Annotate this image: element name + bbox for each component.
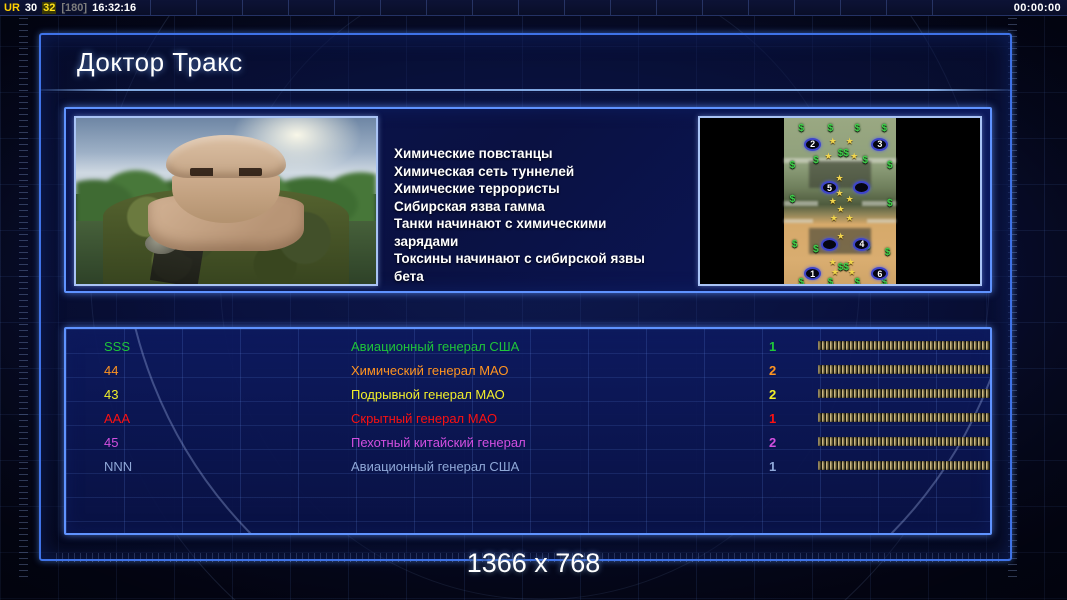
cell-army: Авиационный генерал США [351, 459, 519, 474]
map-supply-marker: $ [887, 198, 893, 209]
cell-progress-bar [818, 341, 992, 350]
table-row: 44Химический генерал МАО2 [66, 359, 990, 383]
map-start-position[interactable]: 4 [853, 238, 870, 251]
cell-player-name: 45 [104, 435, 118, 450]
map-tech-marker: ★ [830, 213, 838, 224]
map-supply-marker: $ [862, 155, 868, 166]
status-bar-left-group: UR 30 32 [180] 16:32:16 [0, 2, 136, 14]
cell-progress-bar [818, 365, 992, 374]
map-supply-marker: $ [828, 123, 834, 134]
cell-army: Авиационный генерал США [351, 339, 519, 354]
cell-player-name: 43 [104, 387, 118, 402]
cell-progress-bar [818, 461, 992, 470]
page-title: Доктор Тракс [77, 47, 243, 78]
table-row: 45Пехотный китайский генерал2 [66, 431, 990, 455]
map-tech-marker: ★ [837, 231, 845, 242]
cell-player-name: NNN [104, 459, 132, 474]
feature-item: Сибирская язва гамма [394, 198, 704, 216]
map-tech-marker: ★ [846, 194, 854, 205]
feature-item: Химические повстанцы [394, 145, 704, 163]
cell-team: 1 [769, 339, 776, 354]
table-row: AAAСкрытный генерал МАО1 [66, 407, 990, 431]
map-supply-marker: $ [799, 277, 805, 286]
map-tech-marker: ★ [850, 151, 858, 162]
map-supply-marker: $ [799, 123, 805, 134]
ruler-left-decoration [19, 18, 28, 578]
cell-team: 2 [769, 363, 776, 378]
cell-army: Подрывной генерал МАО [351, 387, 505, 402]
map-start-position[interactable] [853, 181, 870, 194]
portrait-eyes [190, 168, 262, 176]
cell-player-name: AAA [104, 411, 130, 426]
cell-army: Пехотный китайский генерал [351, 435, 526, 450]
map-tech-marker: ★ [829, 136, 837, 147]
cell-progress-bar [818, 437, 992, 446]
map-supply-marker: $ [792, 239, 798, 250]
map-supply-marker: $ [881, 123, 887, 134]
map-start-position[interactable]: 2 [804, 138, 821, 151]
map-supply-marker: $ [855, 277, 861, 286]
map-supply-marker: $ [813, 155, 819, 166]
map-supply-marker: $ [855, 123, 861, 134]
table-row: 43Подрывной генерал МАО2 [66, 383, 990, 407]
status-timer: 00:00:00 [1014, 2, 1067, 14]
map-start-position[interactable]: 1 [804, 267, 821, 280]
loading-screen-frame: Доктор Тракс Химические повстанцыХимичес… [39, 33, 1012, 561]
feature-item: Химическая сеть туннелей [394, 163, 704, 181]
feature-item: Токсины начинают с сибирской язвы бета [394, 250, 704, 285]
map-tech-marker: ★ [836, 173, 844, 184]
resolution-label: 1366 x 768 [0, 548, 1067, 579]
map-start-position[interactable] [821, 238, 838, 251]
feature-item: Танки начинают с химическими зарядами [394, 215, 704, 250]
cell-team: 2 [769, 387, 776, 402]
cell-player-name: 44 [104, 363, 118, 378]
table-row: SSSАвиационный генерал США1 [66, 335, 990, 359]
status-value-2: 32 [42, 2, 56, 14]
debug-status-bar: UR 30 32 [180] 16:32:16 00:00:00 [0, 0, 1067, 16]
map-tech-marker: ★ [824, 151, 832, 162]
map-tech-marker: ★ [846, 213, 854, 224]
status-prefix: UR [4, 2, 20, 14]
cell-team: 1 [769, 459, 776, 474]
map-road-left-lower [784, 219, 813, 223]
map-start-position[interactable]: 5 [821, 181, 838, 194]
map-supply-marker: $ [843, 148, 849, 159]
cell-progress-bar [818, 413, 992, 422]
map-road-right-lower [867, 219, 896, 223]
general-portrait [74, 116, 378, 286]
cell-army: Скрытный генерал МАО [351, 411, 497, 426]
cell-progress-bar [818, 389, 992, 398]
general-feature-list: Химические повстанцыХимическая сеть тунн… [394, 145, 704, 285]
cell-team: 2 [769, 435, 776, 450]
player-list-panel: Имя игрока Армия Команда Прогресс SSSАви… [64, 327, 992, 535]
map-tech-marker: ★ [831, 267, 839, 278]
map-tech-marker: ★ [846, 136, 854, 147]
map-tech-marker: ★ [848, 267, 856, 278]
cell-team: 1 [769, 411, 776, 426]
map-supply-marker: $ [813, 244, 819, 255]
title-divider [41, 89, 1010, 91]
cell-army: Химический генерал МАО [351, 363, 509, 378]
map-preview: $$$$$$$$$$$$$$$$$$$$$$★★★★★★★★★★★★★★★★23… [698, 116, 982, 286]
map-supply-marker: $ [887, 160, 893, 171]
map-supply-marker: $ [885, 247, 891, 258]
map-supply-marker: $ [828, 277, 834, 286]
status-bar-ticks [150, 0, 947, 15]
table-row: NNNАвиационный генерал США1 [66, 455, 990, 479]
status-clock: 16:32:16 [92, 2, 136, 14]
general-info-panel: Химические повстанцыХимическая сеть тунн… [64, 107, 992, 293]
map-supply-marker: $ [790, 160, 796, 171]
status-value-1: 30 [25, 2, 37, 14]
map-preview-terrain: $$$$$$$$$$$$$$$$$$$$$$★★★★★★★★★★★★★★★★23… [784, 118, 896, 284]
cell-player-name: SSS [104, 339, 130, 354]
status-bracket: [180] [61, 2, 87, 14]
map-start-position[interactable]: 3 [871, 138, 888, 151]
feature-item: Химические террористы [394, 180, 704, 198]
map-supply-marker: $ [790, 194, 796, 205]
